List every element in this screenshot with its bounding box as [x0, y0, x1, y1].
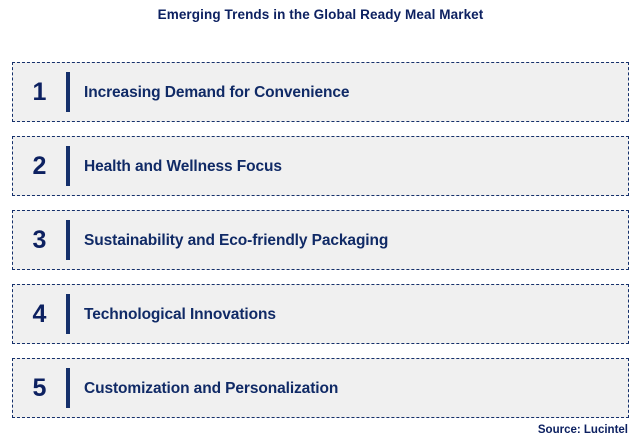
trend-list: 1 Increasing Demand for Convenience 2 He… — [12, 62, 629, 418]
trend-label: Health and Wellness Focus — [70, 157, 628, 176]
trend-row: 4 Technological Innovations — [12, 284, 629, 344]
trend-rank-number: 4 — [13, 301, 66, 327]
trend-row: 3 Sustainability and Eco-friendly Packag… — [12, 210, 629, 270]
trend-rank-number: 1 — [13, 79, 66, 105]
trend-row: 1 Increasing Demand for Convenience — [12, 62, 629, 122]
trend-row: 5 Customization and Personalization — [12, 358, 629, 418]
page-title: Emerging Trends in the Global Ready Meal… — [0, 7, 641, 23]
trend-rank-number: 2 — [13, 153, 66, 179]
trend-row: 2 Health and Wellness Focus — [12, 136, 629, 196]
trend-label: Technological Innovations — [70, 305, 628, 324]
source-attribution: Source: Lucintel — [538, 423, 628, 437]
trend-rank-number: 5 — [13, 375, 66, 401]
trend-label: Increasing Demand for Convenience — [70, 83, 628, 102]
infographic-page: Emerging Trends in the Global Ready Meal… — [0, 0, 641, 445]
trend-label: Customization and Personalization — [70, 379, 628, 398]
trend-rank-number: 3 — [13, 227, 66, 253]
trend-label: Sustainability and Eco-friendly Packagin… — [70, 231, 628, 250]
